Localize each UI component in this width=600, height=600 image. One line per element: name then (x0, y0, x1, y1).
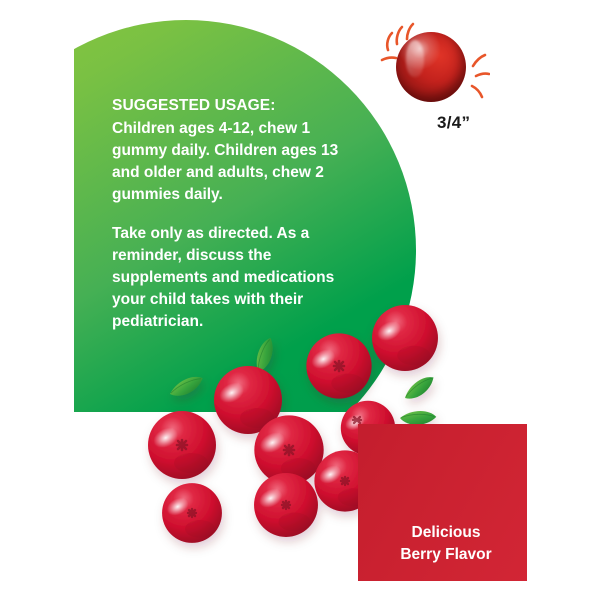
suggested-usage-heading: SUGGESTED USAGE: (112, 96, 358, 115)
product-label-panel: SUGGESTED USAGE: Children ages 4-12, che… (0, 0, 600, 600)
flavor-line-2: Berry Flavor (386, 544, 506, 566)
flavor-banner-text: Delicious Berry Flavor (386, 522, 506, 567)
gummy-size-label: 3/4” (437, 113, 470, 133)
flavor-line-1: Delicious (386, 522, 506, 544)
gummy-highlight (406, 40, 424, 76)
usage-paragraph-1: Children ages 4-12, chew 1 gummy daily. … (112, 118, 358, 206)
gummy-ball-illustration (396, 32, 466, 102)
usage-paragraph-2: Take only as directed. As a reminder, di… (112, 223, 358, 333)
suggested-usage-block: SUGGESTED USAGE: Children ages 4-12, che… (112, 96, 358, 333)
gummy-ball-shape (396, 32, 466, 102)
